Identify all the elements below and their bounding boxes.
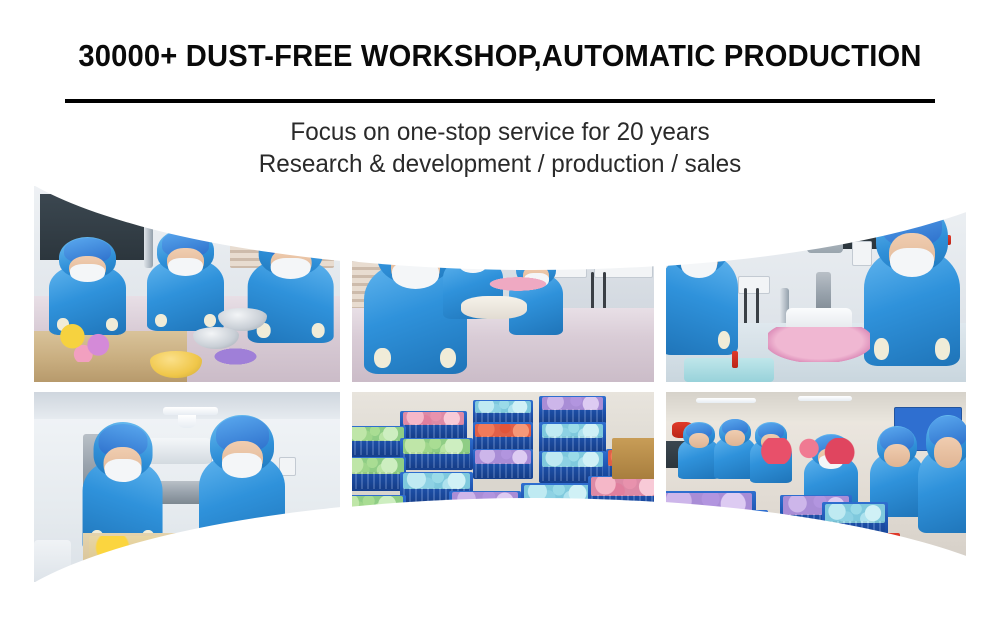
promo-banner: 30000+ DUST-FREE WORKSHOP,AUTOMATIC PROD… [0,0,1000,629]
workshop-photo-4-image [34,392,340,582]
title-divider [65,99,935,103]
workshop-photo-1[interactable] [34,186,340,382]
workshop-photo-6-image [666,392,966,582]
workshop-photo-4[interactable] [34,392,340,582]
page-title: 30000+ DUST-FREE WORKSHOP,AUTOMATIC PROD… [30,38,970,74]
workshop-photo-5-image [352,392,654,582]
workshop-photo-5[interactable] [352,392,654,582]
subtitle-line-2: Research & development / production / sa… [15,148,985,180]
gallery-row-bottom [34,392,966,582]
photo-gallery [34,186,966,582]
workshop-photo-1-image [34,186,340,382]
subtitle-block: Focus on one-stop service for 20 years R… [15,116,985,180]
workshop-photo-6[interactable] [666,392,966,582]
workshop-photo-2-image [352,186,654,382]
subtitle-line-1: Focus on one-stop service for 20 years [15,116,985,148]
gallery-row-top [34,186,966,382]
workshop-photo-2[interactable] [352,186,654,382]
workshop-photo-3[interactable] [666,186,966,382]
workshop-photo-3-image [666,186,966,382]
